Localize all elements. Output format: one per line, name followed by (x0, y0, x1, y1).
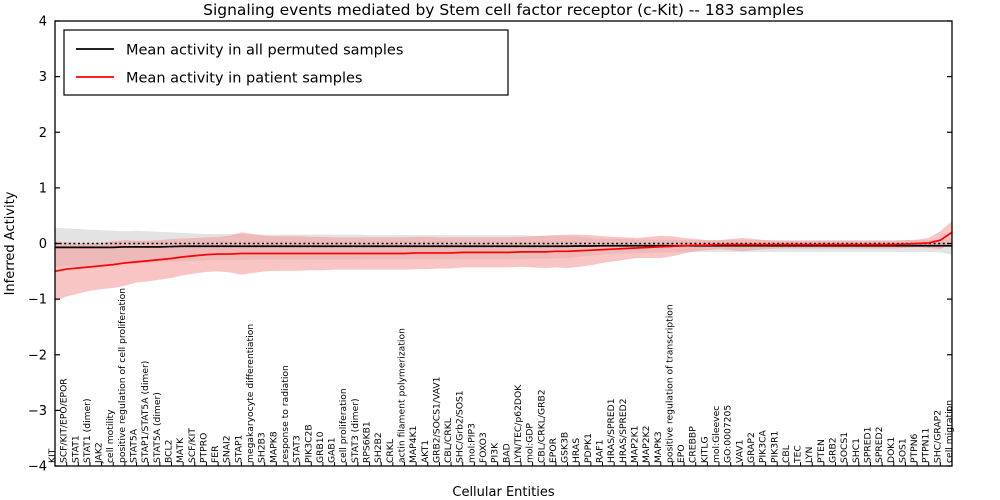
x-tick-label: GRB10 (315, 431, 326, 463)
x-axis-ticks: KITSCF/KIT/EPO/EPORSTAT1STAT1 (dimer)JAK… (47, 288, 955, 466)
x-tick-label: STAP1 (233, 435, 244, 463)
x-tick-label: DOK1 (886, 437, 897, 463)
x-tick-label: BCL2 (163, 439, 174, 463)
y-tick-label: −4 (28, 460, 47, 475)
x-tick-label: PIK3CA (758, 429, 769, 463)
x-axis-label: Cellular Entities (452, 485, 554, 500)
x-tick-label: CRKL (385, 438, 396, 463)
x-tick-label: GSK3B (560, 432, 571, 463)
y-tick-label: −1 (28, 293, 47, 308)
x-tick-label: mol:GDP (525, 423, 536, 463)
y-tick-label: 3 (39, 70, 47, 85)
x-tick-label: SH2B3 (257, 432, 268, 463)
x-tick-label: HRAS/SPRED2 (618, 398, 629, 463)
x-tick-label: JAK2 (94, 442, 105, 464)
x-tick-label: SPRED1 (862, 427, 873, 463)
x-tick-label: CBL/CRKL/GRB2 (536, 389, 547, 463)
x-tick-label: EPO (676, 444, 687, 463)
x-tick-label: PTPN11 (921, 428, 932, 463)
x-tick-label: EPOR (548, 437, 559, 463)
x-tick-label: MAP2K2 (641, 426, 652, 463)
x-tick-label: HRAS/SPRED1 (606, 398, 617, 463)
x-tick-label: LYN (804, 447, 815, 463)
legend-label-0: Mean activity in all permuted samples (126, 43, 403, 59)
x-tick-label: LYN/TEC/p62DOK (513, 384, 524, 463)
x-tick-label: GO:0007205 (723, 405, 734, 463)
x-tick-label: STAT1 (70, 435, 81, 463)
x-tick-label: STAT3 (292, 435, 303, 463)
x-tick-label: KITLG (699, 436, 710, 463)
x-tick-label: SOS1 (897, 438, 908, 463)
x-tick-label: PIK3C2B (303, 424, 314, 463)
x-tick-label: SNAI2 (222, 435, 233, 463)
x-tick-label: mol:Gleevec (711, 406, 722, 463)
x-tick-label: STAT5A (129, 428, 140, 463)
x-tick-label: actin filament polymerization (396, 328, 407, 463)
x-tick-label: STAT1 (dimer) (82, 398, 93, 463)
x-tick-label: PTPN6 (909, 433, 920, 463)
x-tick-label: cell motility (105, 409, 116, 463)
x-tick-label: MAPK3 (653, 431, 664, 463)
x-tick-label: KIT (47, 448, 58, 463)
x-tick-label: positive regulation of cell proliferatio… (117, 288, 128, 463)
x-tick-label: GAB1 (327, 437, 338, 463)
x-tick-label: SCF/KIT (187, 428, 198, 463)
x-tick-label: STAT5A (dimer) (152, 392, 163, 463)
x-tick-label: VAV1 (734, 439, 745, 463)
x-tick-label: RPS6KB1 (362, 421, 373, 463)
y-tick-label: −3 (28, 404, 47, 419)
y-tick-label: 4 (39, 15, 47, 30)
x-tick-label: GRB2 (828, 437, 839, 463)
x-tick-label: SPRED2 (874, 427, 885, 463)
x-tick-label: PIK3R1 (769, 431, 780, 463)
x-tick-label: CBL/CRKL (443, 417, 454, 463)
y-tick-label: 1 (39, 181, 47, 196)
x-tick-label: MAPK8 (268, 431, 279, 463)
x-tick-label: MATK (175, 437, 186, 463)
x-tick-label: SHC/Grb2/SOS1 (455, 390, 466, 463)
x-tick-label: SOCS1 (839, 432, 850, 463)
x-tick-label: PDPK1 (583, 433, 594, 463)
signaling-activity-chart: −4−3−2−101234 KITSCF/KIT/EPO/EPORSTAT1ST… (0, 0, 1000, 500)
x-tick-label: FOXO3 (478, 432, 489, 463)
x-tick-label: mol:PIP3 (466, 423, 477, 463)
x-tick-label: CREBBP (688, 426, 699, 463)
x-tick-label: RAF1 (595, 440, 606, 463)
x-tick-label: CBL (781, 444, 792, 463)
x-tick-label: GRB2/SOCS1/VAV1 (431, 376, 442, 463)
x-tick-label: SH2B2 (373, 432, 384, 463)
x-tick-label: MAP4K1 (408, 426, 419, 463)
chart-title: Signaling events mediated by Stem cell f… (203, 1, 804, 19)
x-tick-label: STAT3 (dimer) (350, 398, 361, 463)
x-tick-label: positive regulation of transcription (664, 304, 675, 463)
x-tick-label: TEC (793, 445, 804, 464)
x-tick-label: response to radiation (280, 365, 291, 463)
x-tick-label: GRAP2 (746, 432, 757, 463)
x-tick-label: SHC1 (851, 438, 862, 463)
y-tick-label: −2 (28, 348, 47, 363)
chart-root: −4−3−2−101234 KITSCF/KIT/EPO/EPORSTAT1ST… (0, 0, 1000, 500)
x-tick-label: SHC/GRAP2 (932, 410, 943, 463)
chart-legend[interactable]: Mean activity in all permuted samplesMea… (64, 30, 508, 95)
x-tick-label: PI3K (490, 442, 501, 463)
x-tick-label: HRAS (571, 438, 582, 463)
x-tick-label: BAD (501, 443, 512, 463)
x-tick-label: SCF/KIT/EPO/EPOR (59, 378, 70, 463)
x-tick-label: FER (210, 445, 221, 463)
x-tick-label: PTEN (816, 439, 827, 463)
x-tick-label: AKT1 (420, 440, 431, 463)
x-tick-label: megakaryocyte differentiation (245, 324, 256, 463)
y-tick-label: 2 (39, 126, 47, 141)
legend-label-1: Mean activity in patient samples (126, 71, 362, 87)
x-tick-label: MAP2K1 (629, 426, 640, 463)
x-tick-label: cell migration (944, 400, 955, 463)
x-tick-label: cell proliferation (338, 388, 349, 463)
confidence-bands (55, 221, 952, 301)
y-tick-label: 0 (39, 237, 47, 252)
y-axis-label: Inferred Activity (3, 191, 18, 295)
x-tick-label: STAP1/STAT5A (dimer) (140, 361, 151, 463)
x-tick-label: PTPRO (198, 433, 209, 463)
